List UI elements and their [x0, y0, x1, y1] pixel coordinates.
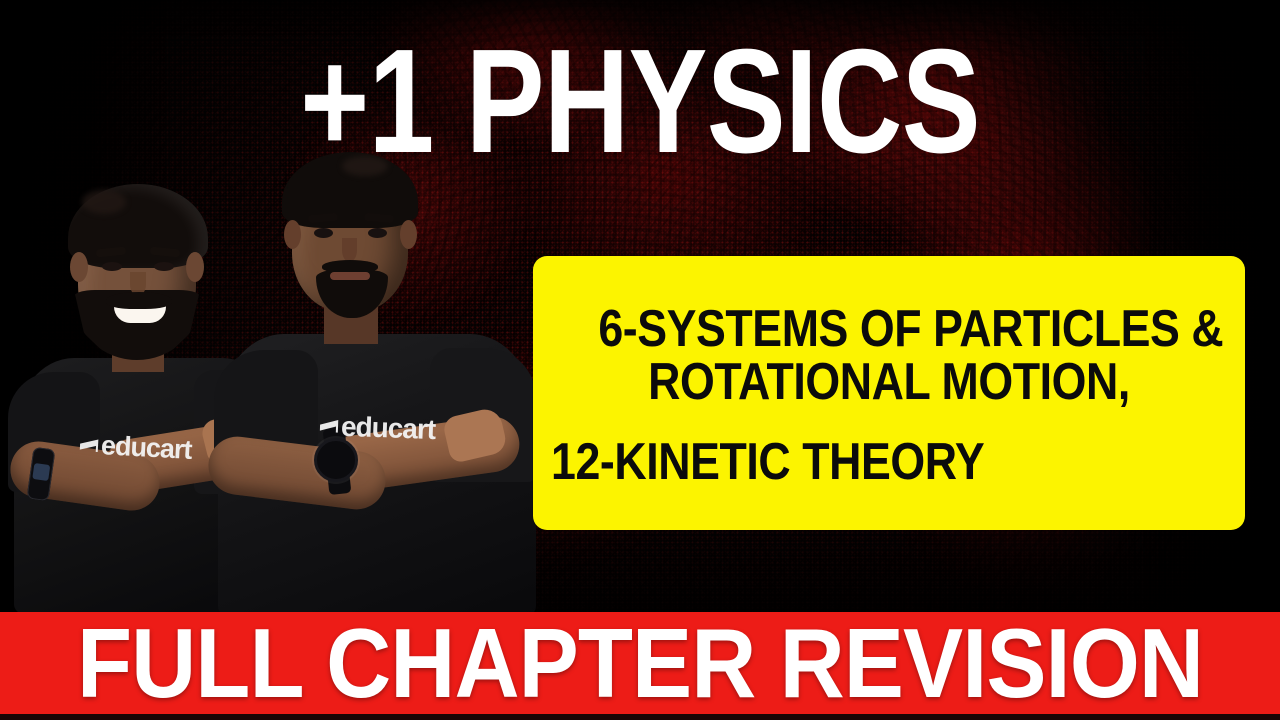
presenter-right-eye-right [368, 228, 387, 238]
chapter-line-2: ROTATIONAL MOTION, [598, 356, 1179, 409]
presenter-right-ear-right [400, 220, 417, 249]
presenter-right: educart [214, 144, 544, 612]
chapter-card: 6-SYSTEMS OF PARTICLES & ROTATIONAL MOTI… [533, 256, 1245, 530]
bottom-banner: FULL CHAPTER REVISION [0, 612, 1280, 714]
graduation-cap-icon [80, 439, 99, 452]
presenter-left-eye-right [154, 262, 174, 271]
presenter-left-moustache [106, 292, 172, 309]
presenter-right-ear-left [284, 220, 301, 249]
thumbnail-canvas: +1 PHYSICS [0, 0, 1280, 720]
presenter-right-eye-left [314, 228, 333, 238]
bottom-banner-text: FULL CHAPTER REVISION [77, 614, 1203, 712]
presenter-right-lips [330, 272, 370, 280]
presenter-left-ear-right [186, 252, 204, 282]
bottom-banner-footer-strip [0, 714, 1280, 720]
presenter-right-watch-face [314, 438, 358, 482]
educart-logo-right: educart [319, 410, 435, 446]
educart-logo-text-left: educart [100, 430, 192, 466]
chapter-line-1: 6-SYSTEMS OF PARTICLES & [598, 303, 1179, 356]
educart-logo-left: educart [79, 429, 192, 466]
presenter-left-eye-left [102, 262, 122, 271]
graduation-cap-icon [320, 420, 338, 433]
educart-logo-text-right: educart [340, 411, 435, 446]
presenter-right-hair [282, 152, 418, 228]
presenter-right-nose [342, 238, 357, 262]
presenter-left-hair [68, 184, 208, 268]
chapter-line-3: 12-KINETIC THEORY [551, 436, 1132, 489]
presenter-left-ear-left [70, 252, 88, 282]
presenters-group: educart [0, 132, 560, 612]
